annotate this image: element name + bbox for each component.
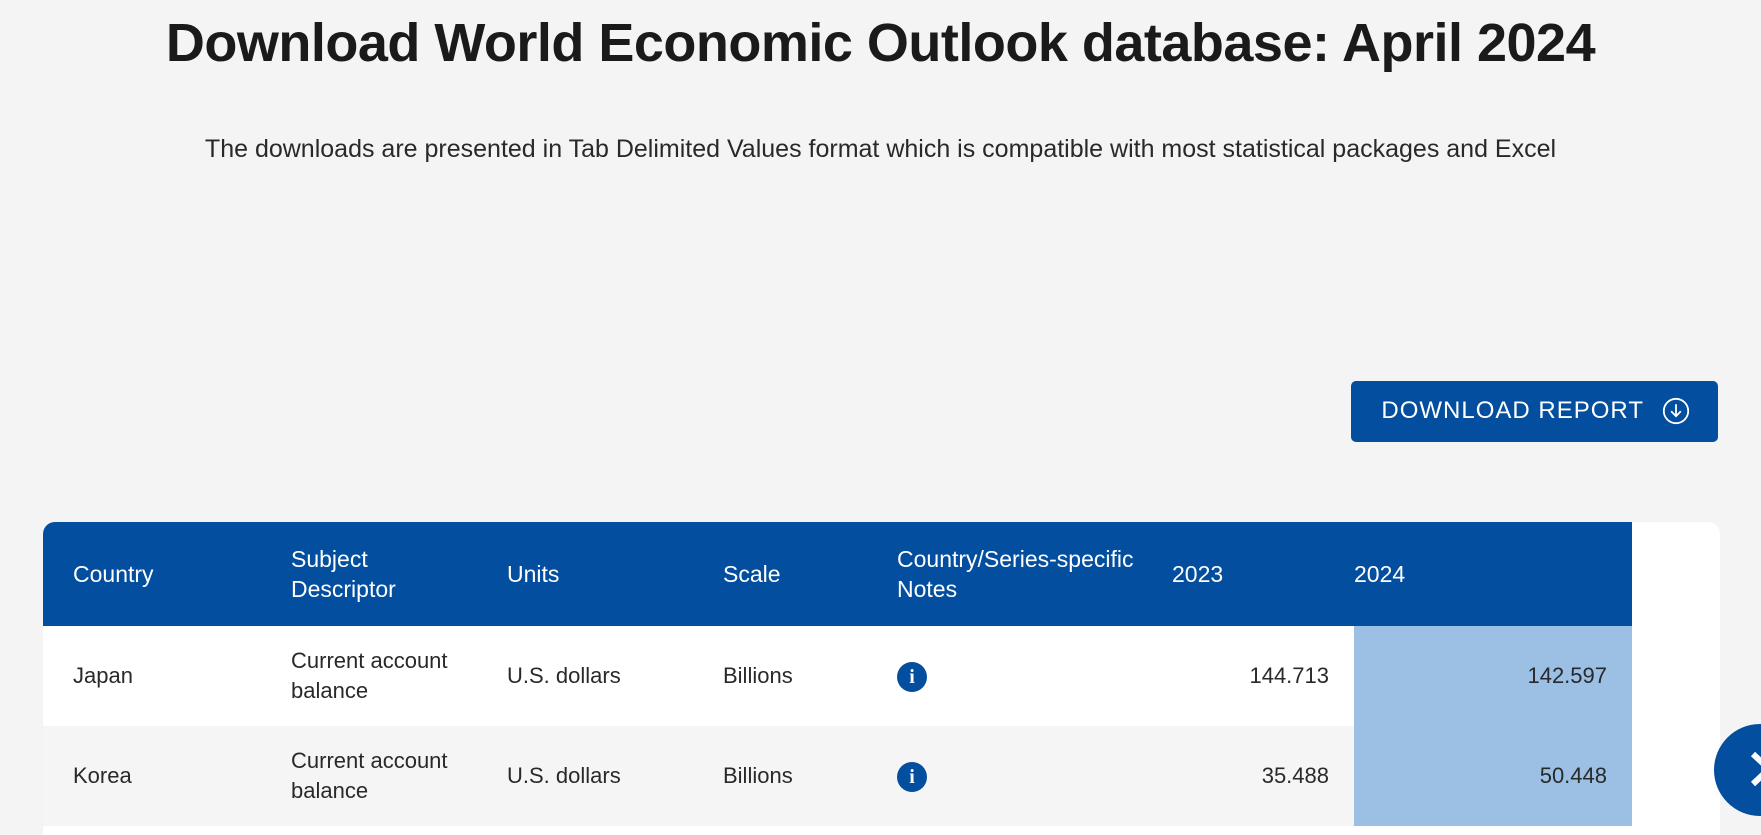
weo-data-table: Country Subject Descriptor Units Scale C…	[43, 522, 1632, 826]
page-subtitle: The downloads are presented in Tab Delim…	[81, 128, 1681, 170]
column-header-country-series-specific-notes[interactable]: Country/Series-specific Notes	[867, 522, 1172, 626]
column-header-scale[interactable]: Scale	[693, 522, 867, 626]
cell-notes: i	[867, 726, 1172, 826]
table-horizontal-scroll-viewport[interactable]: Country Subject Descriptor Units Scale C…	[43, 522, 1632, 835]
download-circle-arrow-icon	[1662, 397, 1690, 425]
scroll-right-fab-button[interactable]	[1714, 724, 1761, 816]
cell-scale: Billions	[693, 626, 867, 726]
table-row[interactable]: Korea Current account balance U.S. dolla…	[43, 726, 1632, 826]
download-report-label: DOWNLOAD REPORT	[1381, 399, 1644, 423]
cell-subject-text: Current account balance	[291, 646, 477, 706]
cell-country: Japan	[43, 626, 261, 726]
cell-2023: 144.713	[1172, 626, 1354, 726]
cell-subject-text: Current account balance	[291, 746, 477, 806]
cell-2023: 35.488	[1172, 726, 1354, 826]
cell-country: Korea	[43, 726, 261, 826]
page-header: Download World Economic Outlook database…	[0, 0, 1761, 170]
data-table-card: Country Subject Descriptor Units Scale C…	[43, 522, 1720, 835]
download-button-row: DOWNLOAD REPORT	[0, 381, 1718, 442]
column-header-units[interactable]: Units	[477, 522, 693, 626]
cell-subject-descriptor: Current account balance	[261, 726, 477, 826]
column-header-2024[interactable]: 2024	[1354, 522, 1632, 626]
cell-2024: 50.448	[1354, 726, 1632, 826]
cell-notes: i	[867, 626, 1172, 726]
page-root: Download World Economic Outlook database…	[0, 0, 1761, 835]
download-report-button[interactable]: DOWNLOAD REPORT	[1351, 381, 1718, 442]
cell-units: U.S. dollars	[477, 726, 693, 826]
column-header-subject-descriptor[interactable]: Subject Descriptor	[261, 522, 477, 626]
column-header-2023[interactable]: 2023	[1172, 522, 1354, 626]
cell-scale: Billions	[693, 726, 867, 826]
column-header-country[interactable]: Country	[43, 522, 261, 626]
table-header: Country Subject Descriptor Units Scale C…	[43, 522, 1632, 626]
table-body: Japan Current account balance U.S. dolla…	[43, 626, 1632, 826]
table-row[interactable]: Japan Current account balance U.S. dolla…	[43, 626, 1632, 726]
cell-units: U.S. dollars	[477, 626, 693, 726]
info-icon[interactable]: i	[897, 662, 927, 692]
chevron-right-icon	[1737, 746, 1761, 795]
info-icon[interactable]: i	[897, 762, 927, 792]
cell-subject-descriptor: Current account balance	[261, 626, 477, 726]
table-header-row: Country Subject Descriptor Units Scale C…	[43, 522, 1632, 626]
page-title: Download World Economic Outlook database…	[96, 2, 1666, 78]
cell-2024: 142.597	[1354, 626, 1632, 726]
